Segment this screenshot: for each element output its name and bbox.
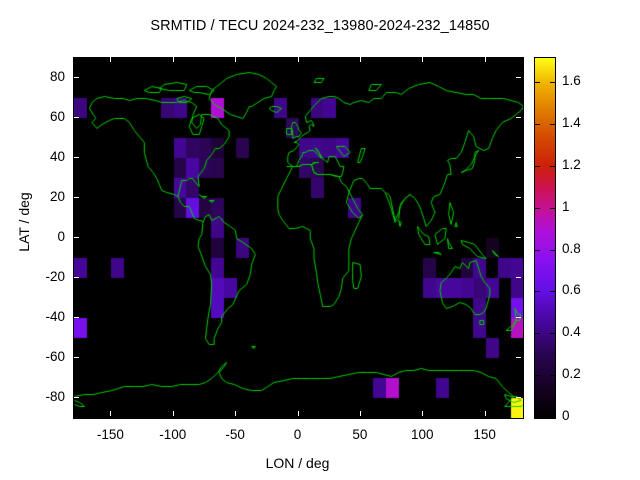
- colorbar-tick-mark: [535, 124, 540, 125]
- coastline-layer: [74, 58, 523, 418]
- x-tick-mark: [422, 57, 423, 62]
- y-tick-label: 80: [7, 69, 65, 84]
- colorbar-tick-mark: [550, 291, 555, 292]
- y-tick-mark: [74, 237, 79, 238]
- y-tick-mark: [516, 157, 521, 158]
- y-tick-label: -60: [7, 349, 65, 364]
- x-tick-mark: [110, 57, 111, 62]
- colorbar-tick-mark: [550, 250, 555, 251]
- x-tick-label: 50: [330, 427, 390, 442]
- y-tick-label: 60: [7, 109, 65, 124]
- colorbar[interactable]: [534, 57, 556, 419]
- colorbar-tick-label: 0: [562, 408, 570, 423]
- colorbar-tick-mark: [535, 250, 540, 251]
- y-tick-mark: [74, 357, 79, 358]
- y-tick-mark: [74, 317, 79, 318]
- colorbar-tick-mark: [535, 208, 540, 209]
- x-tick-label: 0: [268, 427, 328, 442]
- y-tick-mark: [516, 237, 521, 238]
- colorbar-tick-label: 0.6: [562, 282, 581, 297]
- x-tick-mark: [360, 411, 361, 416]
- x-tick-mark: [422, 411, 423, 416]
- colorbar-tick-label: 0.4: [562, 324, 581, 339]
- colorbar-tick-label: 1: [562, 199, 570, 214]
- colorbar-tick-mark: [550, 208, 555, 209]
- y-tick-mark: [74, 397, 79, 398]
- y-tick-mark: [74, 197, 79, 198]
- colorbar-tick-mark: [535, 82, 540, 83]
- x-tick-mark: [173, 57, 174, 62]
- x-tick-mark: [298, 57, 299, 62]
- y-tick-mark: [74, 157, 79, 158]
- x-tick-mark: [110, 411, 111, 416]
- x-tick-label: 150: [455, 427, 515, 442]
- y-axis-label: LAT / deg: [16, 157, 32, 287]
- x-tick-mark: [485, 57, 486, 62]
- map-plot-area[interactable]: [73, 57, 524, 419]
- x-tick-mark: [235, 411, 236, 416]
- colorbar-tick-label: 1.6: [562, 73, 581, 88]
- colorbar-tick-label: 1.2: [562, 157, 581, 172]
- x-tick-label: -100: [143, 427, 203, 442]
- colorbar-gradient: [535, 58, 555, 418]
- y-tick-mark: [74, 117, 79, 118]
- colorbar-tick-mark: [550, 375, 555, 376]
- y-tick-mark: [516, 77, 521, 78]
- y-tick-mark: [516, 317, 521, 318]
- y-tick-mark: [74, 277, 79, 278]
- x-tick-mark: [485, 411, 486, 416]
- colorbar-tick-mark: [535, 333, 540, 334]
- x-tick-mark: [173, 411, 174, 416]
- x-tick-label: -150: [80, 427, 140, 442]
- x-tick-mark: [235, 57, 236, 62]
- colorbar-tick-label: 0.2: [562, 366, 581, 381]
- colorbar-tick-label: 1.4: [562, 115, 581, 130]
- x-tick-mark: [360, 57, 361, 62]
- y-tick-mark: [516, 197, 521, 198]
- colorbar-tick-mark: [535, 417, 540, 418]
- colorbar-tick-mark: [535, 375, 540, 376]
- colorbar-tick-mark: [550, 124, 555, 125]
- x-tick-label: 100: [392, 427, 452, 442]
- figure-canvas: SRMTID / TECU 2024-232_13980-2024-232_14…: [0, 0, 640, 480]
- y-tick-label: -80: [7, 389, 65, 404]
- colorbar-tick-mark: [550, 417, 555, 418]
- y-tick-label: -40: [7, 309, 65, 324]
- y-tick-mark: [516, 277, 521, 278]
- colorbar-tick-mark: [535, 166, 540, 167]
- x-tick-mark: [298, 411, 299, 416]
- chart-title: SRMTID / TECU 2024-232_13980-2024-232_14…: [0, 18, 640, 34]
- y-tick-mark: [516, 357, 521, 358]
- y-tick-mark: [74, 77, 79, 78]
- colorbar-tick-mark: [550, 333, 555, 334]
- y-tick-mark: [516, 397, 521, 398]
- colorbar-tick-mark: [550, 82, 555, 83]
- x-axis-label: LON / deg: [73, 455, 522, 471]
- colorbar-tick-mark: [535, 291, 540, 292]
- colorbar-tick-mark: [550, 166, 555, 167]
- colorbar-tick-label: 0.8: [562, 241, 581, 256]
- x-tick-label: -50: [205, 427, 265, 442]
- y-tick-mark: [516, 117, 521, 118]
